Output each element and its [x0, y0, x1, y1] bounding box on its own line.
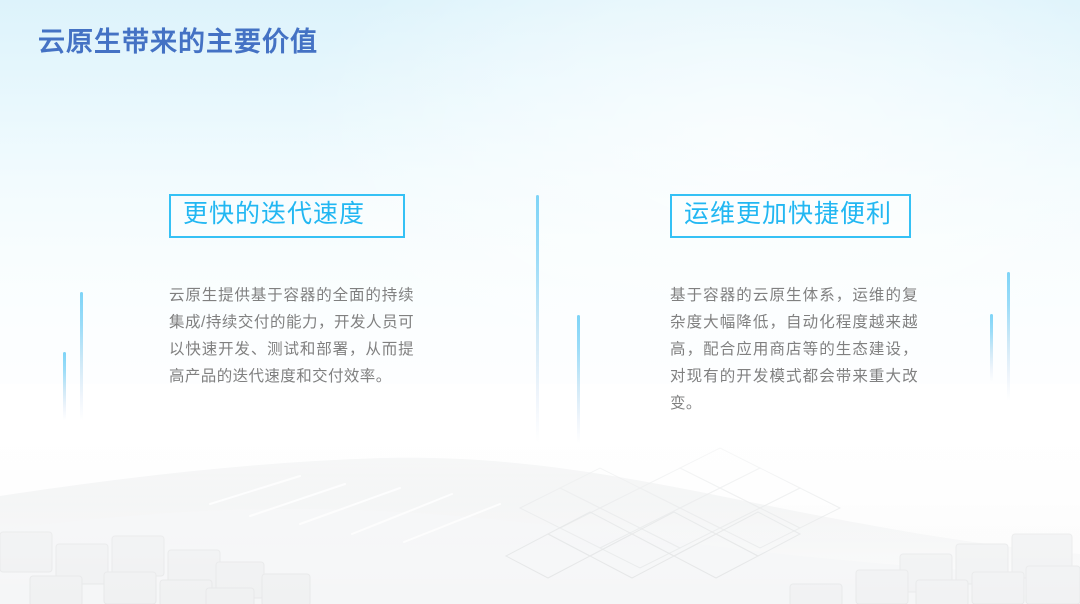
decor-line-right-inner: [990, 314, 993, 382]
decor-line-right-outer: [1007, 272, 1010, 400]
slide-canvas: 云原生带来的主要价值 更快的迭代速度 云原生提供基于容器的全面的持续集成/持续交…: [0, 0, 1080, 604]
decor-line-center-tall: [536, 195, 539, 442]
decor-line-left-inner: [80, 292, 83, 420]
column-heading-right: 运维更加快捷便利: [684, 200, 897, 229]
value-column-left: 更快的迭代速度 云原生提供基于容器的全面的持续集成/持续交付的能力，开发人员可以…: [169, 194, 419, 390]
column-body-left: 云原生提供基于容器的全面的持续集成/持续交付的能力，开发人员可以快速开发、测试和…: [169, 282, 414, 390]
column-body-right: 基于容器的云原生体系，运维的复杂度大幅降低，自动化程度越来越高，配合应用商店等的…: [670, 282, 918, 417]
page-title: 云原生带来的主要价值: [38, 20, 318, 59]
background-terrain-texture: [0, 384, 1080, 604]
column-heading-box-left: 更快的迭代速度: [169, 194, 405, 238]
decor-line-left-outer: [63, 352, 66, 420]
value-column-right: 运维更加快捷便利 基于容器的云原生体系，运维的复杂度大幅降低，自动化程度越来越高…: [670, 194, 920, 417]
column-heading-box-right: 运维更加快捷便利: [670, 194, 911, 238]
decor-line-center-short: [577, 315, 580, 443]
column-heading-left: 更快的迭代速度: [183, 200, 391, 229]
